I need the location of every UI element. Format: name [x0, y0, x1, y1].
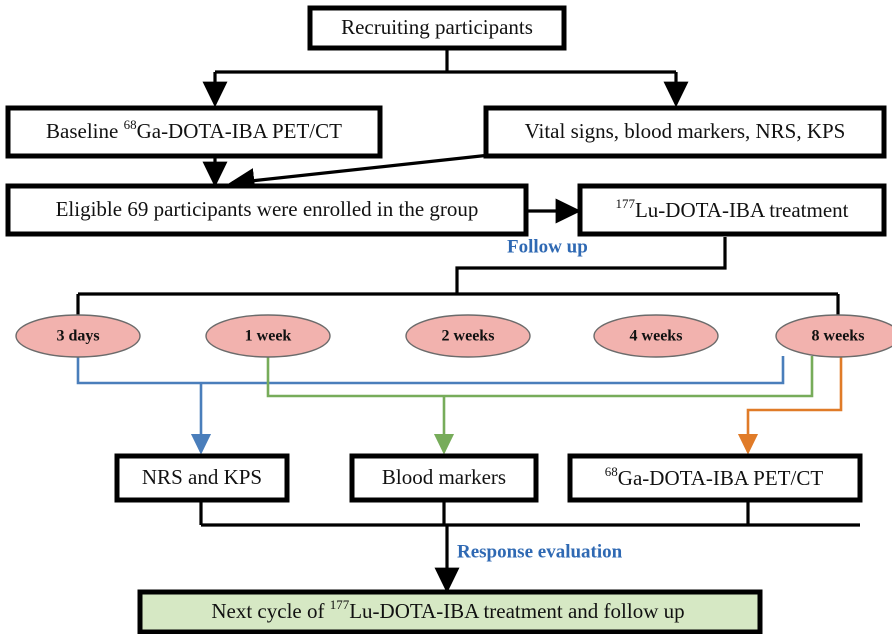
timepoint-1-week[interactable]: 1 week [206, 315, 330, 357]
ga-superscript: 68 [605, 464, 618, 479]
timepoint-3-days[interactable]: 3 days [16, 315, 140, 357]
lu-superscript: 177 [615, 196, 635, 211]
timepoint-label: 8 weeks [812, 328, 865, 345]
box-lu-treatment[interactable]: 177Lu-DOTA-IBA treatment [580, 186, 884, 234]
connector-green-blood-markers [268, 356, 812, 452]
baseline-superscript: 68 [124, 117, 137, 132]
lu-suffix: Lu-DOTA-IBA treatment [635, 198, 849, 222]
box-baseline-pet-ct[interactable]: Baseline 68Ga-DOTA-IBA PET/CT [8, 108, 380, 156]
timepoint-8-weeks[interactable]: 8 weeks [776, 315, 892, 357]
box-vital-signs-label: Vital signs, blood markers, NRS, KPS [525, 119, 846, 143]
box-blood-markers[interactable]: Blood markers [352, 456, 536, 500]
timepoint-label: 4 weeks [630, 328, 683, 345]
baseline-prefix: Baseline [46, 119, 124, 143]
timepoint-label: 2 weeks [442, 328, 495, 345]
connector-recruiting-split [215, 48, 676, 104]
box-eligible-participants[interactable]: Eligible 69 participants were enrolled i… [8, 186, 526, 234]
box-blood-markers-label: Blood markers [382, 465, 506, 489]
connector-followup-distribution [78, 237, 838, 318]
box-nrs-and-kps[interactable]: NRS and KPS [117, 456, 287, 500]
box-lu-treatment-label: 177Lu-DOTA-IBA treatment [615, 196, 848, 222]
next-cycle-suffix: Lu-DOTA-IBA treatment and follow up [349, 599, 684, 623]
box-vital-signs[interactable]: Vital signs, blood markers, NRS, KPS [486, 108, 884, 156]
annotation-response-evaluation: Response evaluation [457, 541, 623, 562]
box-eligible-label: Eligible 69 participants were enrolled i… [56, 197, 479, 221]
box-baseline-label: Baseline 68Ga-DOTA-IBA PET/CT [46, 117, 342, 143]
timepoint-label: 1 week [245, 328, 292, 345]
next-cycle-superscript: 177 [330, 597, 350, 612]
box-next-cycle[interactable]: Next cycle of 177Lu-DOTA-IBA treatment a… [140, 592, 760, 632]
ga-suffix: Ga-DOTA-IBA PET/CT [618, 466, 824, 490]
baseline-suffix: Ga-DOTA-IBA PET/CT [137, 119, 343, 143]
box-recruiting-participants[interactable]: Recruiting participants [310, 8, 564, 48]
box-recruiting-label: Recruiting participants [341, 15, 533, 39]
timepoint-label: 3 days [56, 328, 99, 345]
timepoint-4-weeks[interactable]: 4 weeks [594, 315, 718, 357]
flowchart-diagram: Recruiting participants Baseline 68Ga-DO… [0, 0, 892, 634]
connector-vitalsigns-to-eligible [232, 155, 490, 183]
connector-blue-nrs-kps [78, 356, 783, 452]
flowchart-canvas: Recruiting participants Baseline 68Ga-DO… [0, 0, 892, 634]
box-ga-pet-label: 68Ga-DOTA-IBA PET/CT [605, 464, 824, 490]
timepoint-2-weeks[interactable]: 2 weeks [406, 315, 530, 357]
box-ga-pet-ct[interactable]: 68Ga-DOTA-IBA PET/CT [570, 456, 860, 500]
box-next-cycle-label: Next cycle of 177Lu-DOTA-IBA treatment a… [211, 597, 684, 623]
box-nrs-kps-label: NRS and KPS [142, 465, 262, 489]
connector-orange-pet-ct [748, 356, 841, 452]
next-cycle-prefix: Next cycle of [211, 599, 329, 623]
annotation-follow-up: Follow up [507, 236, 588, 257]
